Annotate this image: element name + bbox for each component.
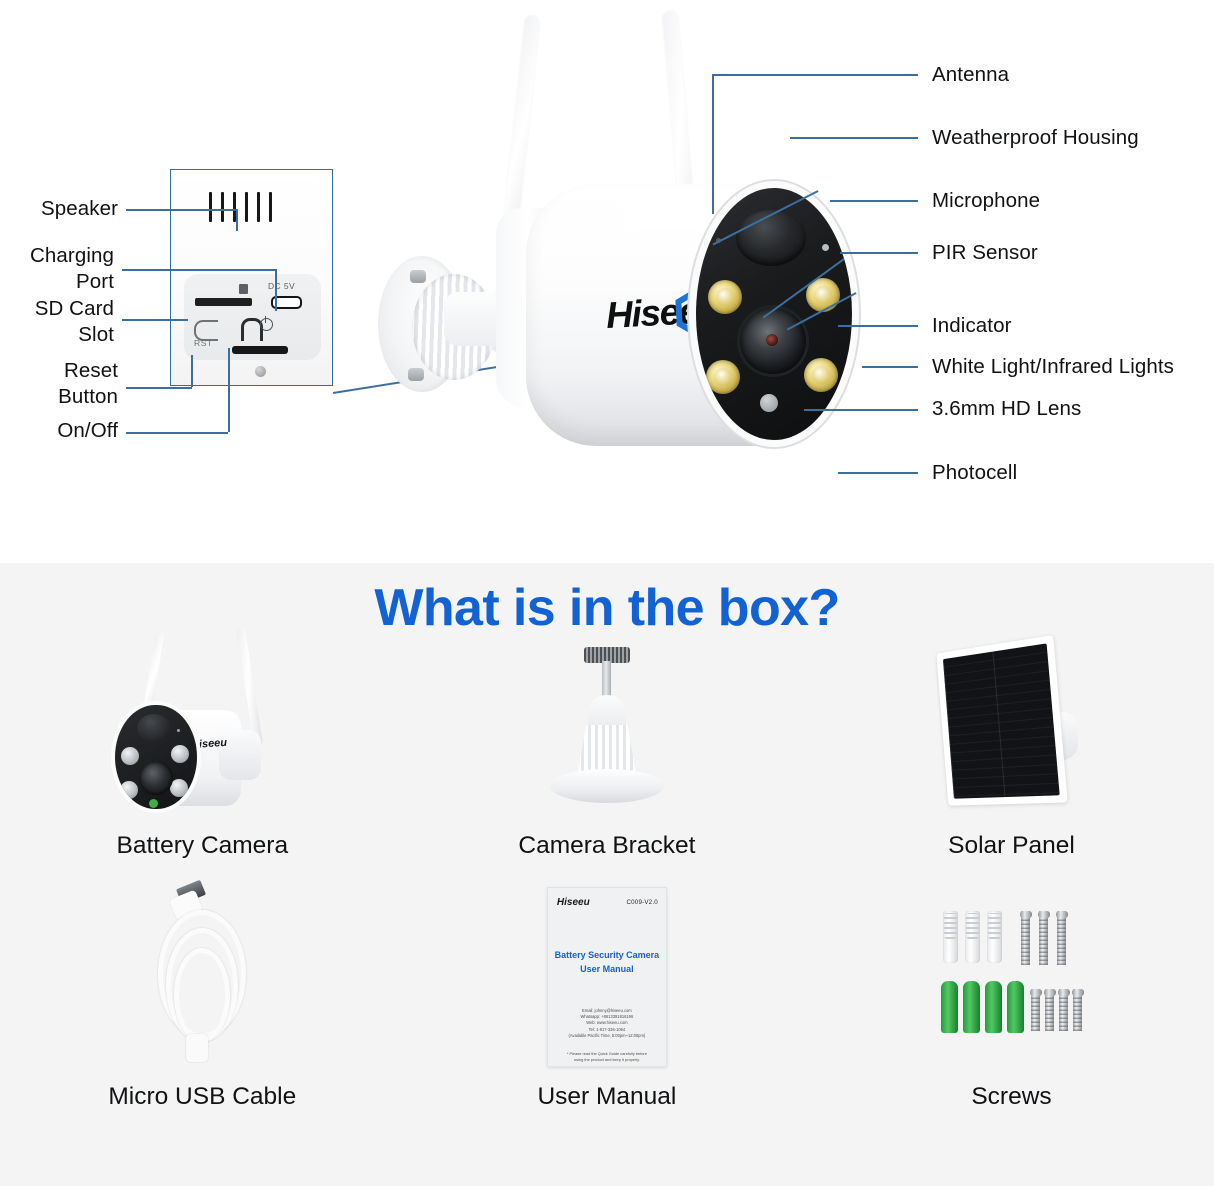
leader-antenna (712, 74, 918, 76)
label-photocell: Photocell (932, 460, 1017, 486)
solar-panel-thumbnail (809, 623, 1214, 828)
box-item-label: Camera Bracket (518, 832, 695, 874)
leader-speaker (126, 209, 236, 211)
box-item-label: Micro USB Cable (108, 1083, 296, 1125)
thumb-led-2 (171, 745, 189, 763)
manual-title-line2: User Manual (548, 964, 666, 974)
cable-loop-inner (174, 948, 230, 1042)
manual-title-line1: Battery Security Camera (548, 950, 666, 960)
solar-panel-frame (937, 635, 1068, 806)
thumb-pir-sensor (137, 714, 171, 742)
io-plate: DC 5V RST (184, 274, 321, 360)
label-indicator: Indicator (932, 313, 1012, 339)
indicator-led (822, 244, 829, 251)
label-hd-lens: 3.6mm HD Lens (932, 396, 1081, 422)
short-screw (1073, 989, 1082, 1031)
box-items-row: Micro USB Cable Hiseeu C009-V2.0 Battery… (0, 874, 1214, 1125)
white-wall-anchor (987, 911, 1002, 963)
solar-panel-cells (943, 643, 1060, 798)
thumb-indicator (177, 729, 180, 732)
label-pir-sensor: PIR Sensor (932, 240, 1038, 266)
mount-screw-bottom (408, 368, 424, 381)
leader-weatherproof (790, 137, 918, 139)
micro-usb-connector (186, 1034, 208, 1062)
mount-screw-top (410, 270, 426, 283)
leader-sd-card-slot (122, 319, 188, 321)
long-screw (1057, 911, 1066, 965)
manual-contact-info: Email: johnny@hiseeu.com Whatsapp: +8613… (548, 1008, 666, 1040)
bracket-base-plate (550, 769, 664, 803)
white-wall-anchor (965, 911, 980, 963)
leader-reset-button (126, 387, 192, 389)
manual-model-number: C009-V2.0 (627, 899, 658, 906)
photocell (760, 394, 778, 412)
leader-charging-port-v (275, 269, 277, 311)
power-button-slot (232, 346, 288, 354)
label-white-infrared-lights: White Light/Infrared Lights (932, 354, 1174, 380)
label-on-off: On/Off (0, 418, 118, 444)
camera-front-face (696, 188, 852, 440)
label-sd-card-slot: SD Card Slot (0, 296, 114, 348)
rst-label: RST (194, 338, 213, 348)
leader-on-off (126, 432, 228, 434)
sd-card-symbol-icon (239, 284, 248, 294)
camera-illustration: Hiseeu (378, 8, 878, 528)
leader-pir (840, 252, 918, 254)
short-screw (1045, 989, 1054, 1031)
pir-sensor (736, 210, 806, 266)
green-wall-anchor (985, 981, 1002, 1033)
infrared-light-bottom-left (706, 360, 740, 394)
box-item-battery-camera: Hiseeu (0, 623, 405, 874)
short-screw (1031, 989, 1040, 1031)
dc-label: DC 5V (268, 281, 295, 291)
box-item-solar-panel: Solar Panel (809, 623, 1214, 874)
power-symbol-icon (260, 318, 273, 331)
camera-lens (740, 308, 806, 374)
leader-antenna-v (712, 74, 714, 214)
box-contents-section: What is in the box? Hiseeu (0, 563, 1214, 1186)
label-antenna: Antenna (932, 62, 1009, 88)
leader-charging-port (122, 269, 275, 271)
long-screw (1039, 911, 1048, 965)
thumb-camera-face (115, 705, 197, 809)
thumb-status-light (149, 799, 158, 808)
leader-reset-button-v (191, 355, 193, 387)
box-item-camera-bracket: Camera Bracket (405, 623, 810, 874)
white-wall-anchor (943, 911, 958, 963)
screws-thumbnail (809, 874, 1214, 1079)
label-microphone: Microphone (932, 188, 1040, 214)
leader-speaker-v (236, 209, 238, 231)
long-screw (1021, 911, 1030, 965)
battery-camera-thumbnail: Hiseeu (0, 623, 405, 828)
thumb-led-1 (121, 747, 139, 765)
micro-usb-cable-thumbnail (0, 874, 405, 1079)
leader-lights (862, 366, 918, 368)
box-item-micro-usb-cable: Micro USB Cable (0, 874, 405, 1125)
box-item-screws: Screws (809, 874, 1214, 1125)
leader-photocell (838, 472, 918, 474)
panel-screw (255, 366, 266, 377)
back-panel-inset: DC 5V RST (170, 169, 333, 386)
label-speaker: Speaker (0, 196, 118, 222)
box-item-label: Battery Camera (117, 832, 289, 874)
sd-card-slot (195, 298, 252, 306)
manual-notice: * Please read the Quick Guide carefully … (555, 1051, 659, 1063)
box-items-grid: Hiseeu (0, 623, 1214, 1125)
thumb-lens (139, 761, 173, 795)
short-screw (1059, 989, 1068, 1031)
box-items-row: Hiseeu (0, 623, 1214, 874)
green-wall-anchor (963, 981, 980, 1033)
box-item-label: Solar Panel (948, 832, 1075, 874)
product-infographic: DC 5V RST Speaker Charging Port SD Card … (0, 0, 1214, 1186)
box-item-user-manual: Hiseeu C009-V2.0 Battery Security Camera… (405, 874, 810, 1125)
camera-diagram-section: DC 5V RST Speaker Charging Port SD Card … (0, 0, 1214, 563)
thumb-led-3 (120, 781, 138, 799)
leader-indicator (838, 325, 918, 327)
manual-brand-logo: Hiseeu (557, 897, 590, 908)
leader-microphone (830, 200, 918, 202)
green-wall-anchor (1007, 981, 1024, 1033)
label-reset-button: Reset Button (0, 358, 118, 410)
leader-on-off-v (228, 348, 230, 432)
camera-bracket-thumbnail (405, 623, 810, 828)
label-charging-port: Charging Port (0, 243, 114, 295)
infrared-light-top-left (708, 280, 742, 314)
leader-lens (804, 409, 918, 411)
infrared-light-bottom-right (804, 358, 838, 392)
green-wall-anchor (941, 981, 958, 1033)
user-manual-thumbnail: Hiseeu C009-V2.0 Battery Security Camera… (405, 874, 810, 1079)
box-item-label: Screws (971, 1083, 1051, 1125)
speaker-grill-icon (209, 192, 275, 222)
box-item-label: User Manual (537, 1083, 676, 1125)
label-weatherproof-housing: Weatherproof Housing (932, 125, 1139, 151)
